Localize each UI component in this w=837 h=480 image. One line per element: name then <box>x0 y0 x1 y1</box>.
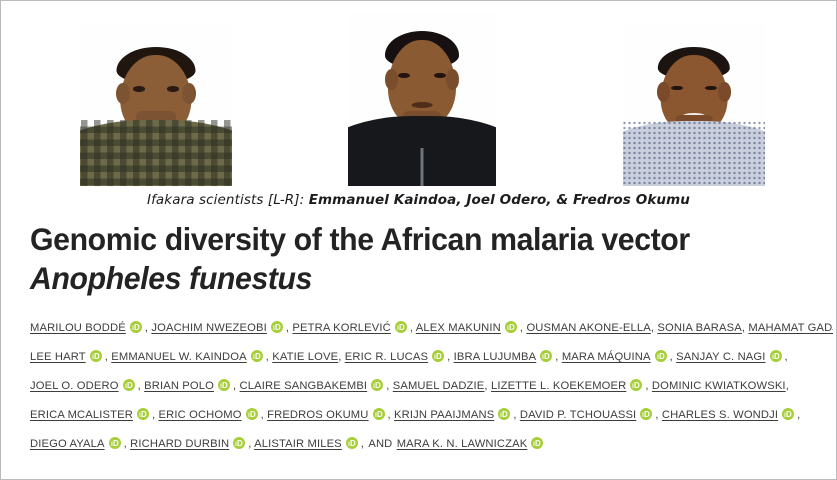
photo-strip <box>4 4 833 188</box>
eye-right <box>167 86 179 92</box>
author-separator: , <box>797 409 800 421</box>
author-entry: Brian PoloiD, <box>144 380 239 392</box>
mouth-shape <box>412 102 433 108</box>
orcid-id-icon[interactable]: iD <box>251 350 263 362</box>
ear-right <box>446 69 459 90</box>
svg-text:iD: iD <box>139 410 147 419</box>
photo-caption: Ifakara scientists [L-R]: Emmanuel Kaind… <box>4 192 833 208</box>
author-name[interactable]: Fredros Okumu <box>267 409 368 421</box>
orcid-id-icon[interactable]: iD <box>271 321 283 333</box>
author-name[interactable]: Samuel Dadzie <box>393 380 485 392</box>
portrait-emmanuel-kaindoa <box>80 22 232 186</box>
author-name[interactable]: Alex Makunin <box>416 322 501 334</box>
author-entry: Eric R. LucasiD, <box>345 351 454 363</box>
shoulders-shape <box>623 121 765 186</box>
orcid-id-icon[interactable]: iD <box>540 350 552 362</box>
orcid-id-icon[interactable]: iD <box>630 379 642 391</box>
author-name[interactable]: Alistair Miles <box>254 438 342 450</box>
author-row: Erica McAlisteriD, Eric OchomoiD, Fredro… <box>30 401 820 430</box>
author-name[interactable]: Eric R. Lucas <box>345 351 428 363</box>
author-name[interactable]: Eric Ochomo <box>159 409 242 421</box>
orcid-id-icon[interactable]: iD <box>90 350 102 362</box>
author-name[interactable]: Sanjay C. Nagi <box>676 351 765 363</box>
svg-text:iD: iD <box>507 323 515 332</box>
author-entry: Katie Love, <box>272 351 344 363</box>
author-entry: Dominic Kwiatkowski, <box>652 380 789 392</box>
orcid-id-icon[interactable]: iD <box>770 350 782 362</box>
page-content: Ifakara scientists [L-R]: Emmanuel Kaind… <box>4 4 833 476</box>
author-entry: Petra KorlevićiD, <box>292 322 415 334</box>
author-entry: Mahamat GadjiiD, <box>748 322 833 334</box>
portrait-fredros-okumu <box>623 24 765 186</box>
author-separator: , <box>786 380 789 392</box>
svg-text:iD: iD <box>373 381 381 390</box>
author-name[interactable]: Charles S. Wondji <box>662 409 778 421</box>
orcid-id-icon[interactable]: iD <box>395 321 407 333</box>
svg-text:iD: iD <box>434 352 442 361</box>
jacket-zip <box>421 148 424 186</box>
author-name[interactable]: Lizette L. Koekemoer <box>491 380 626 392</box>
author-entry: Mara MáquinaiD, <box>562 351 676 363</box>
title-line-1: Genomic diversity of the African malaria… <box>30 220 801 259</box>
svg-text:iD: iD <box>772 352 780 361</box>
svg-text:iD: iD <box>125 381 133 390</box>
svg-text:iD: iD <box>273 323 281 332</box>
author-entry: Ibra LujumbaiD, <box>454 351 562 363</box>
author-entry: Emmanuel W. KaindoaiD, <box>111 351 272 363</box>
orcid-id-icon[interactable]: iD <box>782 408 794 420</box>
orcid-id-icon[interactable]: iD <box>218 379 230 391</box>
orcid-id-icon[interactable]: iD <box>346 437 358 449</box>
svg-text:iD: iD <box>220 381 228 390</box>
svg-text:iD: iD <box>348 439 356 448</box>
svg-text:iD: iD <box>253 352 261 361</box>
eye-left <box>133 86 145 92</box>
author-row: Joel O. OderoiD, Brian PoloiD, Claire Sa… <box>30 372 820 401</box>
orcid-id-icon[interactable]: iD <box>655 350 667 362</box>
author-name[interactable]: Ousman Akone-Ella <box>526 322 650 334</box>
author-name[interactable]: Brian Polo <box>144 380 214 392</box>
author-name[interactable]: Sonia Barasa <box>657 322 742 334</box>
orcid-id-icon[interactable]: iD <box>498 408 510 420</box>
orcid-id-icon[interactable]: iD <box>371 379 383 391</box>
orcid-id-icon[interactable]: iD <box>137 408 149 420</box>
svg-text:iD: iD <box>533 439 541 448</box>
author-name[interactable]: Krijn Paaijmans <box>394 409 494 421</box>
svg-text:iD: iD <box>784 410 792 419</box>
author-entry: Alex MakuniniD, <box>416 322 527 334</box>
author-name[interactable]: Joel O. Odero <box>30 380 119 392</box>
author-name[interactable]: Lee Hart <box>30 351 86 363</box>
author-entry: Claire SangbakembiiD, <box>240 380 393 392</box>
article-page: Ifakara scientists [L-R]: Emmanuel Kaind… <box>0 0 837 480</box>
author-entry: Joachim NwezeobiiD, <box>151 322 292 334</box>
author-entry: Joel O. OderoiD, <box>30 380 144 392</box>
orcid-id-icon[interactable]: iD <box>130 321 142 333</box>
svg-text:iD: iD <box>542 352 550 361</box>
author-conjunction: and <box>367 438 396 450</box>
author-entry: Eric OchomoiD, <box>159 409 268 421</box>
caption-names: Emmanuel Kaindoa, Joel Odero, & Fredros … <box>309 192 690 208</box>
author-entry: and Mara K. N. LawniczakiD <box>367 438 546 450</box>
author-entry: Charles S. WondjiiD, <box>662 409 801 421</box>
ear-right <box>182 83 196 104</box>
portrait-joel-odero <box>348 12 496 186</box>
author-entry: Lizette L. KoekemoeriD, <box>491 380 652 392</box>
shoulders-shape <box>80 120 232 186</box>
author-name[interactable]: Marilou Boddé <box>30 322 126 334</box>
author-entry: Samuel Dadzie, <box>393 380 491 392</box>
orcid-id-icon[interactable]: iD <box>531 437 543 449</box>
author-entry: Ousman Akone-Ella, <box>526 322 657 334</box>
author-name[interactable]: David P. Tchouassi <box>520 409 636 421</box>
author-separator: , <box>785 351 788 363</box>
orcid-id-icon[interactable]: iD <box>432 350 444 362</box>
svg-text:iD: iD <box>375 410 383 419</box>
author-entry: Erica McAlisteriD, <box>30 409 159 421</box>
author-name[interactable]: Katie Love <box>272 351 338 363</box>
author-name[interactable]: Diego Ayala <box>30 438 105 450</box>
svg-text:iD: iD <box>657 352 665 361</box>
svg-text:iD: iD <box>111 439 119 448</box>
author-name[interactable]: Joachim Nwezeobi <box>151 322 267 334</box>
author-name[interactable]: Claire Sangbakembi <box>240 380 368 392</box>
author-name[interactable]: Emmanuel W. Kaindoa <box>111 351 246 363</box>
author-entry: Krijn PaaijmansiD, <box>394 409 520 421</box>
caption-prefix: Ifakara scientists [L-R]: <box>147 192 309 208</box>
author-name[interactable]: Mara Máquina <box>562 351 651 363</box>
svg-text:iD: iD <box>633 381 641 390</box>
author-name[interactable]: Richard Durbin <box>130 438 229 450</box>
author-entry: Alistair MilesiD, <box>254 438 367 450</box>
author-entry: Richard DurbiniD, <box>130 438 254 450</box>
author-name[interactable]: Mara K. N. Lawniczak <box>397 438 528 450</box>
orcid-id-icon[interactable]: iD <box>246 408 258 420</box>
author-entry: Marilou BoddéiD, <box>30 322 151 334</box>
author-row: Diego AyalaiD, Richard DurbiniD, Alistai… <box>30 430 820 459</box>
orcid-id-icon[interactable]: iD <box>233 437 245 449</box>
orcid-id-icon[interactable]: iD <box>505 321 517 333</box>
svg-text:iD: iD <box>235 439 243 448</box>
author-entry: Lee HartiD, <box>30 351 111 363</box>
author-name[interactable]: Dominic Kwiatkowski <box>652 380 786 392</box>
svg-text:iD: iD <box>132 323 140 332</box>
orcid-id-icon[interactable]: iD <box>373 408 385 420</box>
author-name[interactable]: Erica McAlister <box>30 409 133 421</box>
author-row: Lee HartiD, Emmanuel W. KaindoaiD, Katie… <box>30 343 820 372</box>
author-name[interactable]: Mahamat Gadji <box>748 322 833 334</box>
title-line-2-species: Anopheles funestus <box>30 259 801 298</box>
svg-text:iD: iD <box>397 323 405 332</box>
svg-text:iD: iD <box>642 410 650 419</box>
svg-text:iD: iD <box>500 410 508 419</box>
author-row: Marilou BoddéiD, Joachim NwezeobiiD, Pet… <box>30 314 820 343</box>
orcid-id-icon[interactable]: iD <box>123 379 135 391</box>
author-name[interactable]: Ibra Lujumba <box>454 351 537 363</box>
author-list: Marilou BoddéiD, Joachim NwezeobiiD, Pet… <box>30 314 820 459</box>
author-entry: Diego AyalaiD, <box>30 438 130 450</box>
author-entry: Fredros OkumuiD, <box>267 409 394 421</box>
author-name[interactable]: Petra Korlević <box>292 322 390 334</box>
orcid-id-icon[interactable]: iD <box>640 408 652 420</box>
orcid-id-icon[interactable]: iD <box>109 437 121 449</box>
svg-text:iD: iD <box>248 410 256 419</box>
ear-left <box>657 82 670 101</box>
ear-left <box>116 83 130 104</box>
author-entry: Sonia Barasa, <box>657 322 748 334</box>
ear-right <box>718 82 731 101</box>
author-entry: David P. TchouassiiD, <box>520 409 662 421</box>
article-title: Genomic diversity of the African malaria… <box>4 208 833 298</box>
author-entry: Sanjay C. NagiiD, <box>676 351 788 363</box>
svg-text:iD: iD <box>92 352 100 361</box>
